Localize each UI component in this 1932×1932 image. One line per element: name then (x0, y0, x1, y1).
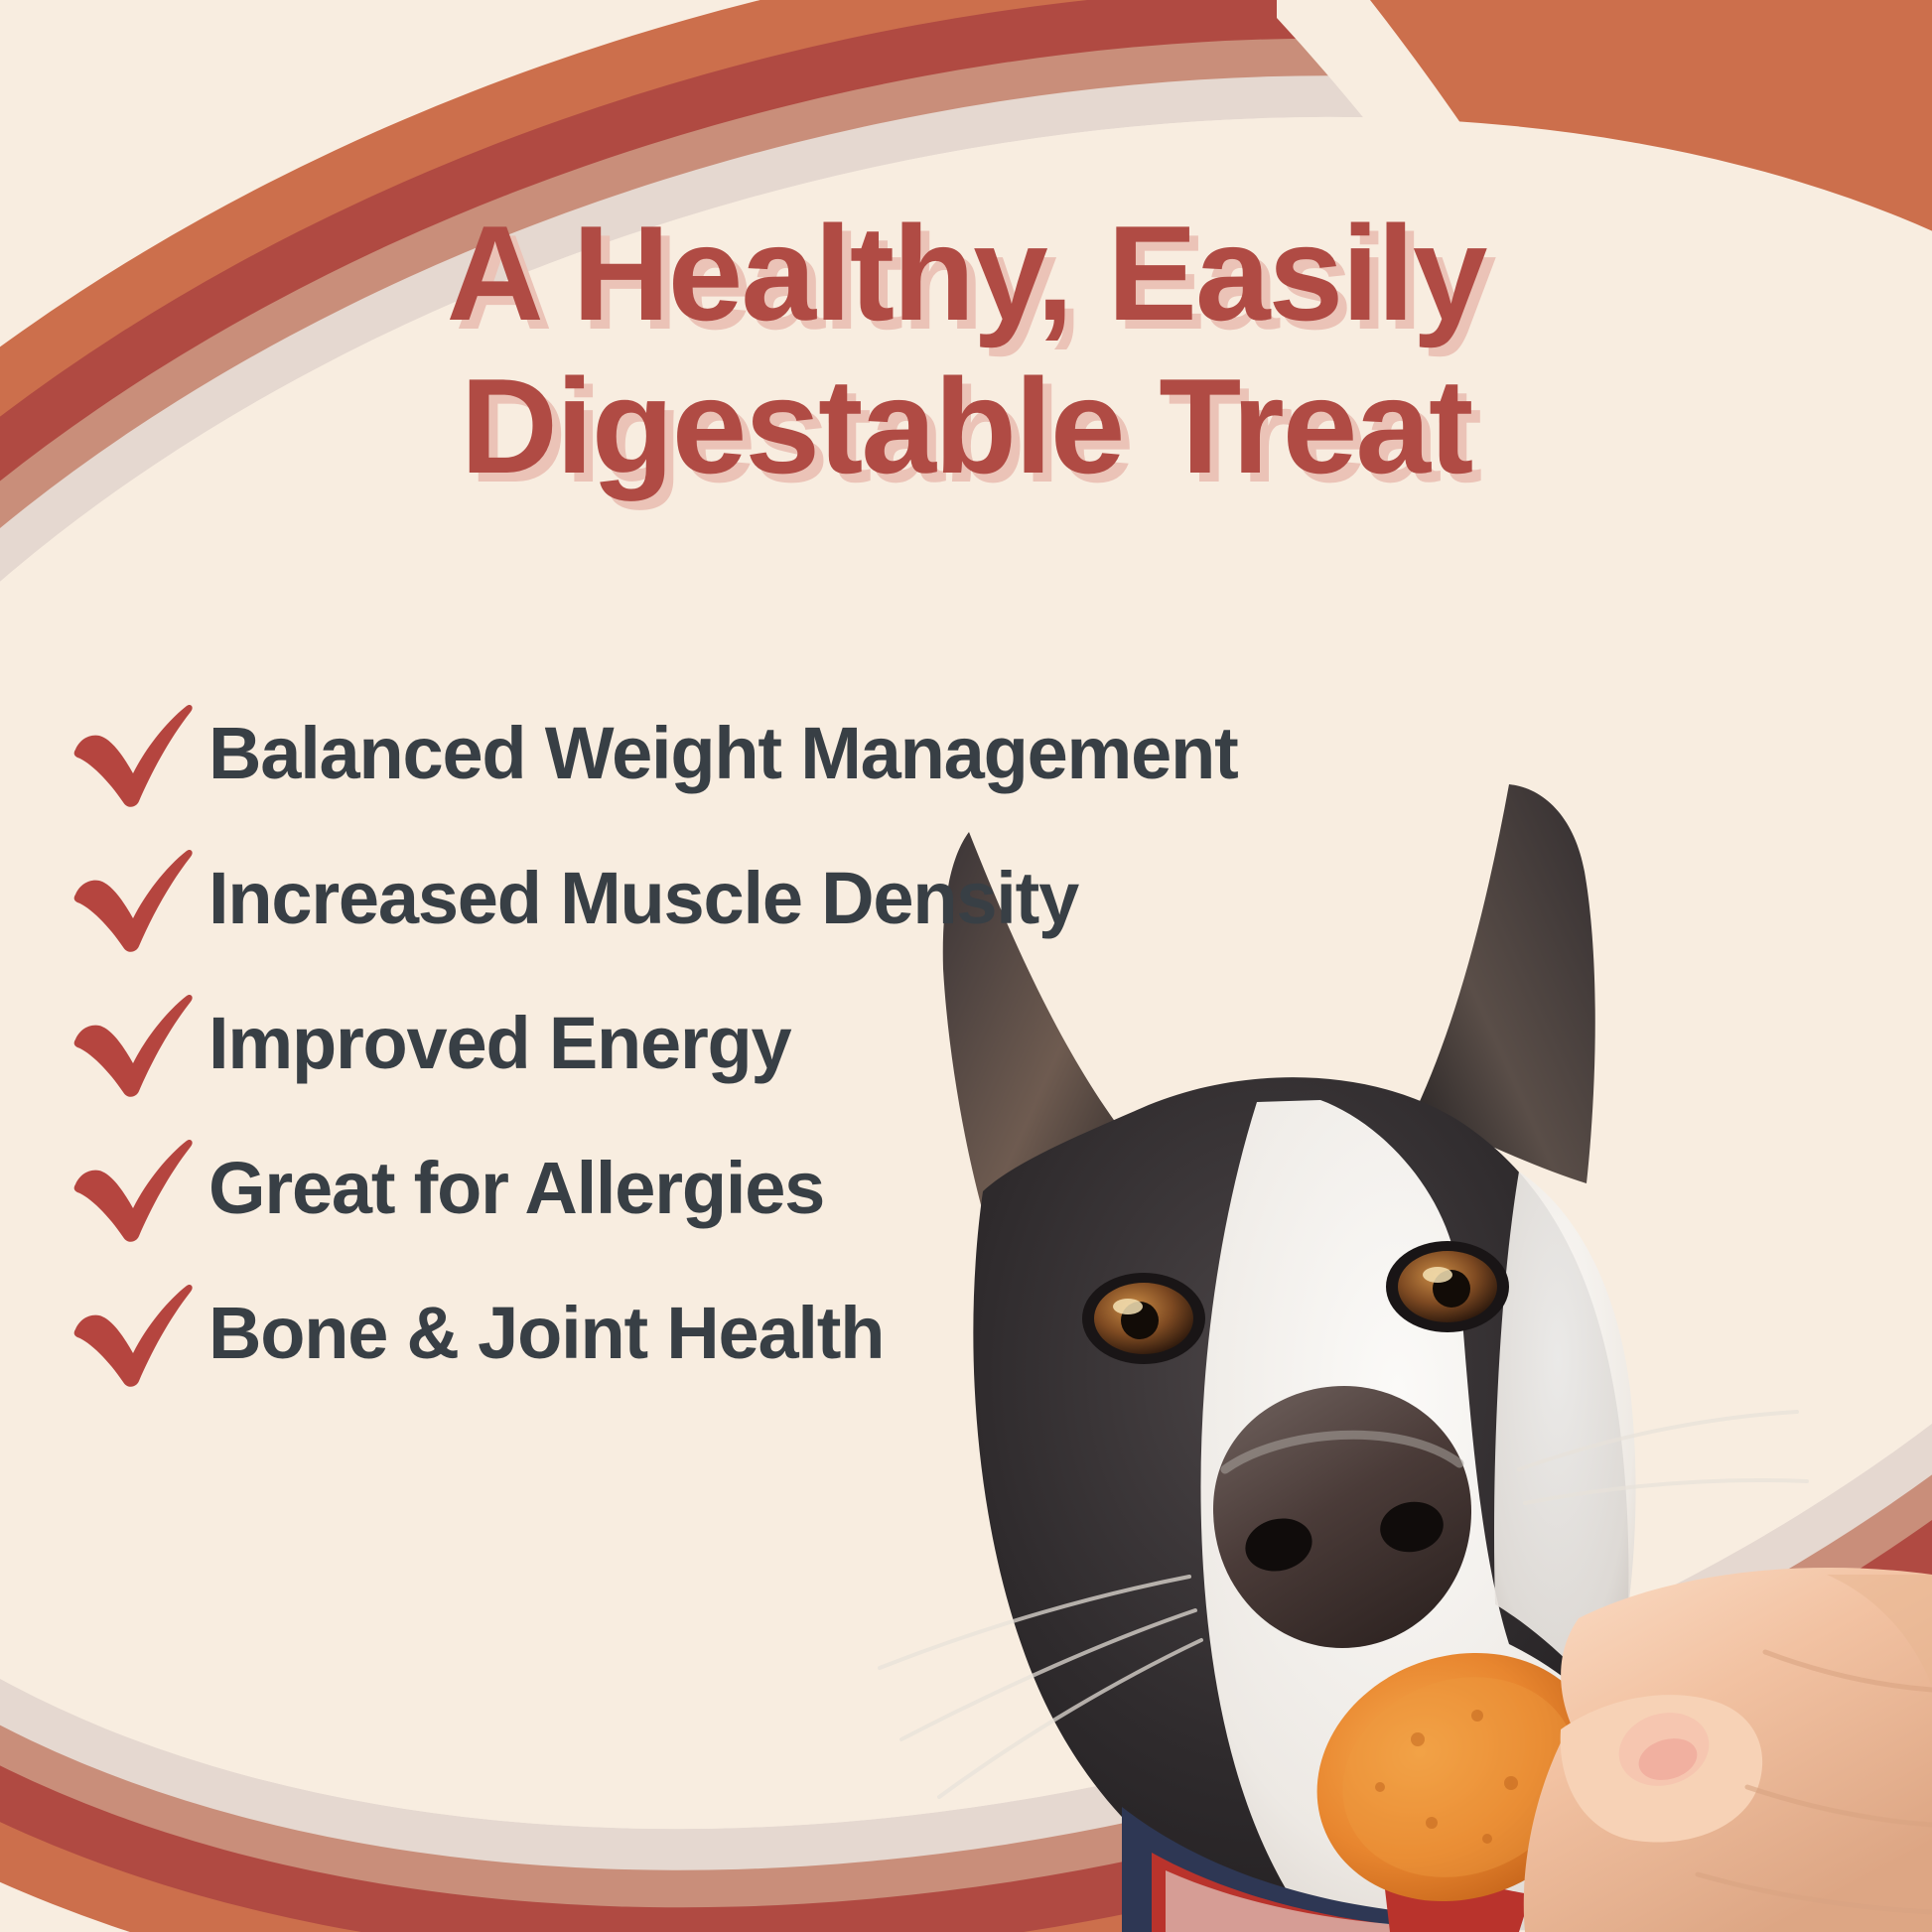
dog-eye-right (1386, 1241, 1509, 1332)
human-hand (1524, 1568, 1932, 1932)
dog-eating-treat-photo (824, 774, 1932, 1932)
poster-canvas: A Healthy, Easily Digestable Treat (0, 0, 1932, 1932)
dog-eye-left (1082, 1273, 1205, 1364)
